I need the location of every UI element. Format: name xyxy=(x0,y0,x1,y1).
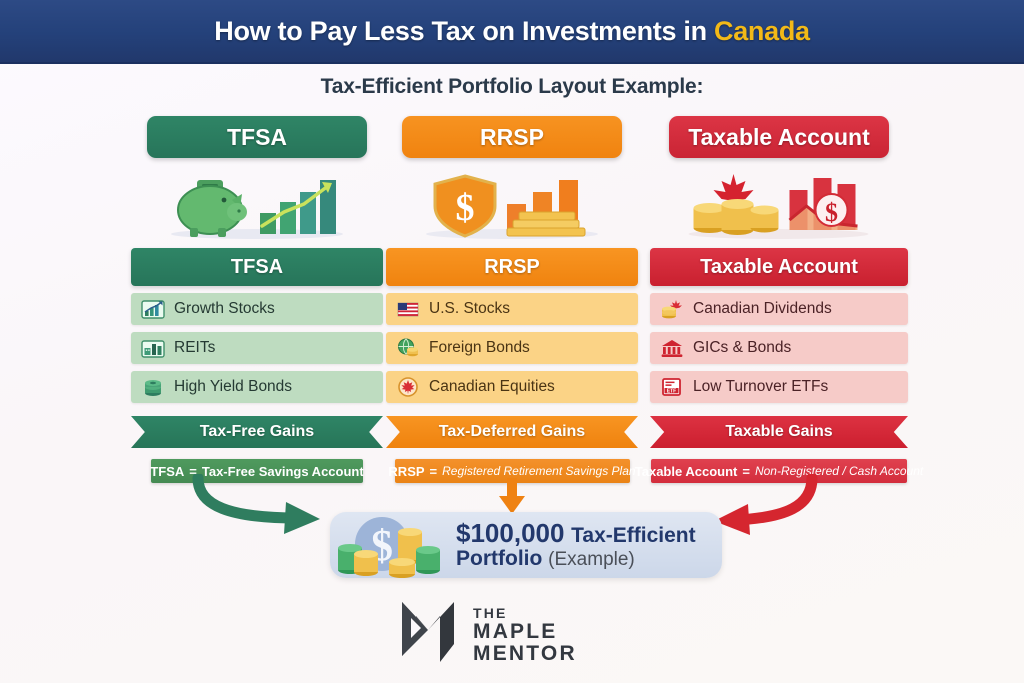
badge-taxable-account: Taxable Account xyxy=(669,116,889,158)
list-item[interactable]: High Yield Bonds xyxy=(131,371,383,403)
line-chart-up-icon xyxy=(141,298,165,320)
ribbon-tax-free-gains: Tax-Free Gains xyxy=(131,416,383,448)
list-item-label: U.S. Stocks xyxy=(429,300,510,318)
portfolio-line2-note: (Example) xyxy=(548,549,635,570)
list-item-label: Low Turnover ETFs xyxy=(693,378,828,396)
svg-text:$: $ xyxy=(825,198,838,227)
column-rrsp: RRSP $ RRSP xyxy=(386,116,638,483)
maple-leaf-badge-icon xyxy=(396,376,420,398)
list-item-label: Canadian Equities xyxy=(429,378,555,396)
portfolio-line2-main: Portfolio xyxy=(456,547,542,570)
list-item[interactable]: Canadian Dividends xyxy=(650,293,908,325)
maple-mentor-m-icon xyxy=(398,600,460,671)
art-piggy-bank-growth-chart-icon xyxy=(131,168,383,240)
portfolio-summary-card: $ xyxy=(330,512,722,578)
art-shield-dollar-gold-bars-icon: $ xyxy=(386,168,638,240)
list-item-label: GICs & Bonds xyxy=(693,339,791,357)
portfolio-line1-rest: Tax-Efficient xyxy=(571,524,695,547)
portfolio-line1: $100,000 Tax-Efficient xyxy=(456,520,696,548)
portfolio-text: $100,000 Tax-Efficient Portfolio (Exampl… xyxy=(454,520,696,570)
list-item[interactable]: Canadian Equities xyxy=(386,371,638,403)
header-rrsp: RRSP xyxy=(386,248,638,286)
logo-line-3: MENTOR xyxy=(473,643,577,665)
header-taxable-account: Taxable Account xyxy=(650,248,908,286)
list-item[interactable]: REITs xyxy=(131,332,383,364)
coins-maple-leaf-icon xyxy=(660,298,684,320)
list-item[interactable]: GICs & Bonds xyxy=(650,332,908,364)
column-tfsa: TFSA xyxy=(131,116,383,483)
footnote-key: TFSA xyxy=(150,464,184,479)
building-chart-icon xyxy=(141,337,165,359)
logo-line-1: THE xyxy=(473,606,577,621)
list-item-label: Canadian Dividends xyxy=(693,300,832,318)
list-item[interactable]: U.S. Stocks xyxy=(386,293,638,325)
svg-text:ETF: ETF xyxy=(667,388,676,394)
etf-document-icon: ETF xyxy=(660,376,684,398)
ribbon-tax-deferred-gains: Tax-Deferred Gains xyxy=(386,416,638,448)
column-taxable-account: Taxable Account xyxy=(650,116,908,483)
money-coins-dollar-icon: $ xyxy=(330,512,454,578)
infographic-canvas: How to Pay Less Tax on Investments in Ca… xyxy=(0,0,1024,683)
list-item-label: Foreign Bonds xyxy=(429,339,530,357)
us-flag-icon xyxy=(396,298,420,320)
list-item-label: REITs xyxy=(174,339,215,357)
page-title: How to Pay Less Tax on Investments in Ca… xyxy=(214,16,809,47)
globe-coins-icon xyxy=(396,337,420,359)
logo-wordmark: THE MAPLE MENTOR xyxy=(473,606,577,664)
title-bar: How to Pay Less Tax on Investments in Ca… xyxy=(0,0,1024,64)
svg-text:$: $ xyxy=(456,187,475,229)
list-item[interactable]: Growth Stocks xyxy=(131,293,383,325)
badge-rrsp: RRSP xyxy=(402,116,622,158)
green-curved-arrow-icon xyxy=(190,474,350,541)
page-title-highlight: Canada xyxy=(714,16,810,46)
ribbon-taxable-gains: Taxable Gains xyxy=(650,416,908,448)
footnote-equals: = xyxy=(430,464,438,479)
portfolio-amount: $100,000 xyxy=(456,518,564,548)
list-item-label: High Yield Bonds xyxy=(174,378,292,396)
list-item-label: Growth Stocks xyxy=(174,300,275,318)
subtitle: Tax-Efficient Portfolio Layout Example: xyxy=(0,75,1024,99)
footnote-value: Registered Retirement Savings Plan xyxy=(442,464,635,478)
bank-building-icon xyxy=(660,337,684,359)
list-item[interactable]: ETF Low Turnover ETFs xyxy=(650,371,908,403)
brand-logo: THE MAPLE MENTOR xyxy=(398,600,577,671)
footnote-key: RRSP xyxy=(388,464,424,479)
badge-tfsa: TFSA xyxy=(147,116,367,158)
page-title-main: How to Pay Less Tax on Investments in xyxy=(214,16,714,46)
art-gold-coins-maple-leaf-chart-icon: $ xyxy=(650,168,908,240)
list-item[interactable]: Foreign Bonds xyxy=(386,332,638,364)
logo-line-2: MAPLE xyxy=(473,621,577,643)
cash-stack-icon xyxy=(141,376,165,398)
header-tfsa: TFSA xyxy=(131,248,383,286)
portfolio-line2: Portfolio (Example) xyxy=(456,548,696,570)
